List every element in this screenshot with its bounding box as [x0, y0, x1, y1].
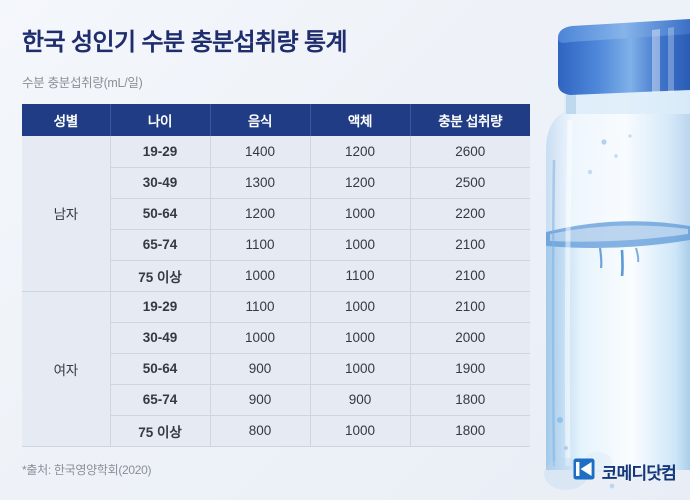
- column-header-gender: 성별: [22, 104, 110, 136]
- cell-age: 19-29: [110, 291, 210, 322]
- cell-age: 19-29: [110, 136, 210, 167]
- cell-age: 30-49: [110, 322, 210, 353]
- brand-name: 코메디닷컴: [602, 459, 676, 484]
- page-title: 한국 성인기 수분 충분섭취량 통계: [22, 22, 347, 57]
- cell-fluid: 1000: [310, 322, 410, 353]
- cell-total: 2200: [410, 198, 530, 229]
- water-intake-table: 성별 나이 음식 액체 충분 섭취량 남자 19-29 1400 1200 26…: [22, 104, 530, 447]
- cell-total: 2100: [410, 229, 530, 260]
- cell-total: 1800: [410, 384, 530, 415]
- cell-fluid: 900: [310, 384, 410, 415]
- cell-age: 50-64: [110, 198, 210, 229]
- gender-label-male: 남자: [22, 136, 110, 291]
- cell-total: 2100: [410, 260, 530, 291]
- table-header-row: 성별 나이 음식 액체 충분 섭취량: [22, 104, 530, 136]
- cell-fluid: 1000: [310, 291, 410, 322]
- cell-age: 75 이상: [110, 415, 210, 446]
- cell-age: 50-64: [110, 353, 210, 384]
- table-row: 여자 19-29 1100 1000 2100: [22, 291, 530, 322]
- subtitle-unit-label: 수분 충분섭취량(mL/일): [22, 72, 142, 91]
- water-bottle-illustration: [540, 0, 690, 500]
- cell-food: 1100: [210, 229, 310, 260]
- cell-total: 2100: [410, 291, 530, 322]
- gender-label-female: 여자: [22, 291, 110, 446]
- cell-age: 65-74: [110, 384, 210, 415]
- cell-total: 2600: [410, 136, 530, 167]
- cell-food: 900: [210, 384, 310, 415]
- column-header-total: 충분 섭취량: [410, 104, 530, 136]
- cell-food: 1000: [210, 260, 310, 291]
- cell-fluid: 1000: [310, 353, 410, 384]
- cell-food: 1200: [210, 198, 310, 229]
- cell-food: 1000: [210, 322, 310, 353]
- k-logo-icon: [573, 458, 595, 485]
- cell-food: 1300: [210, 167, 310, 198]
- source-note: *출처: 한국영양학회(2020): [22, 461, 151, 478]
- cell-total: 1900: [410, 353, 530, 384]
- cell-food: 1400: [210, 136, 310, 167]
- brand-logo: 코메디닷컴: [573, 458, 676, 485]
- cell-age: 30-49: [110, 167, 210, 198]
- cell-food: 800: [210, 415, 310, 446]
- cell-fluid: 1200: [310, 167, 410, 198]
- cell-food: 1100: [210, 291, 310, 322]
- cell-food: 900: [210, 353, 310, 384]
- table-row: 남자 19-29 1400 1200 2600: [22, 136, 530, 167]
- cell-total: 2500: [410, 167, 530, 198]
- cell-total: 2000: [410, 322, 530, 353]
- cell-age: 65-74: [110, 229, 210, 260]
- cell-fluid: 1000: [310, 229, 410, 260]
- column-header-fluid: 액체: [310, 104, 410, 136]
- cell-fluid: 1000: [310, 415, 410, 446]
- cell-fluid: 1200: [310, 136, 410, 167]
- cell-fluid: 1000: [310, 198, 410, 229]
- cell-fluid: 1100: [310, 260, 410, 291]
- cell-age: 75 이상: [110, 260, 210, 291]
- cell-total: 1800: [410, 415, 530, 446]
- column-header-food: 음식: [210, 104, 310, 136]
- column-header-age: 나이: [110, 104, 210, 136]
